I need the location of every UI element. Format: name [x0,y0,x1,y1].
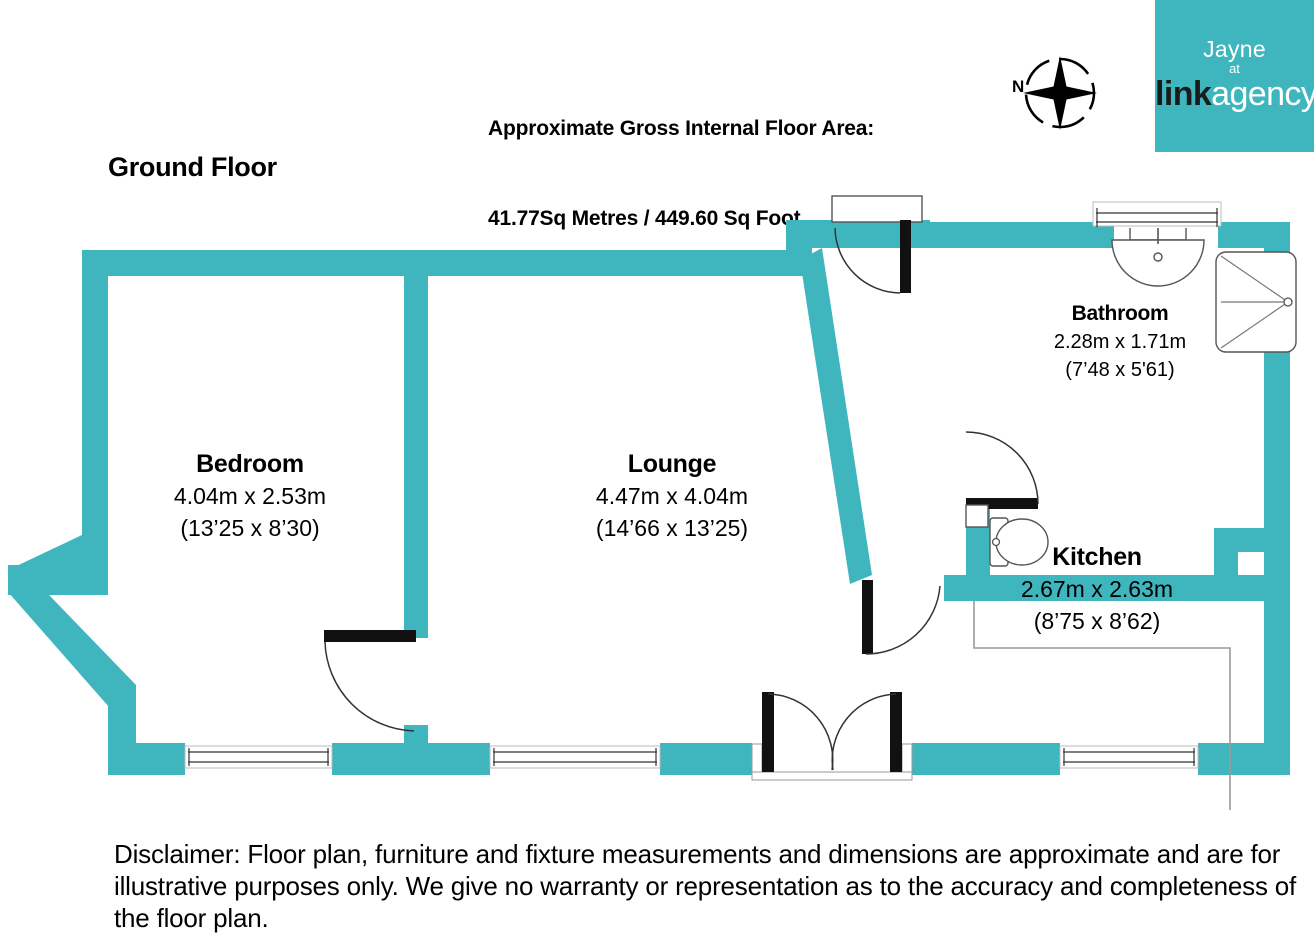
bathroom-door [966,432,1038,509]
bedroom-door [324,630,416,731]
room-name-bathroom: Bathroom [1022,300,1218,328]
room-dim-metric-bathroom: 2.28m x 1.71m [1022,328,1218,356]
room-label-bedroom: Bedroom 4.04m x 2.53m (13’25 x 8’30) [100,448,400,544]
room-dim-imperial-bathroom: (7’48 x 5'61) [1022,356,1218,384]
window-lounge [490,746,660,768]
logo-at-text: at [1155,62,1314,75]
shower-enclosure-icon [1216,252,1296,352]
logo-jayne-text: Jayne [1155,38,1314,61]
logo-link-text: link [1155,75,1211,113]
room-dim-imperial-lounge: (14’66 x 13’25) [552,512,792,544]
brand-logo: Jayne at linkagency [1155,0,1314,152]
window-bathroom [1093,202,1221,227]
disclaimer-text: Disclaimer: Floor plan, furniture and fi… [114,838,1304,934]
window-bedroom [185,746,332,768]
room-label-lounge: Lounge 4.47m x 4.04m (14’66 x 13’25) [552,448,792,544]
page-title: Ground Floor [108,152,277,183]
area-line-1: Approximate Gross Internal Floor Area: [488,114,874,144]
room-label-bathroom: Bathroom 2.28m x 1.71m (7’48 x 5'61) [1022,300,1218,384]
floorplan-page: Approximate Gross Internal Floor Area: 4… [0,0,1314,945]
room-dim-metric-lounge: 4.47m x 4.04m [552,480,792,512]
compass-north-label: N [1012,77,1024,97]
room-name-lounge: Lounge [552,448,792,480]
sink-basin-icon [1112,228,1204,286]
room-label-kitchen: Kitchen 2.67m x 2.63m (8’75 x 8’62) [985,541,1209,637]
room-dim-metric-kitchen: 2.67m x 2.63m [985,573,1209,605]
logo-wordmark: linkagency [1155,77,1314,111]
room-dim-metric-bedroom: 4.04m x 2.53m [100,480,400,512]
logo-agency-text: agency [1211,75,1314,113]
room-dim-imperial-bedroom: (13’25 x 8’30) [100,512,400,544]
room-name-bedroom: Bedroom [100,448,400,480]
window-entrance [832,196,922,222]
french-doors [752,692,912,780]
room-name-kitchen: Kitchen [985,541,1209,573]
compass-rose: N [1004,52,1116,138]
window-kitchen [1060,746,1198,768]
room-dim-imperial-kitchen: (8’75 x 8’62) [985,605,1209,637]
hall-door [862,580,940,654]
